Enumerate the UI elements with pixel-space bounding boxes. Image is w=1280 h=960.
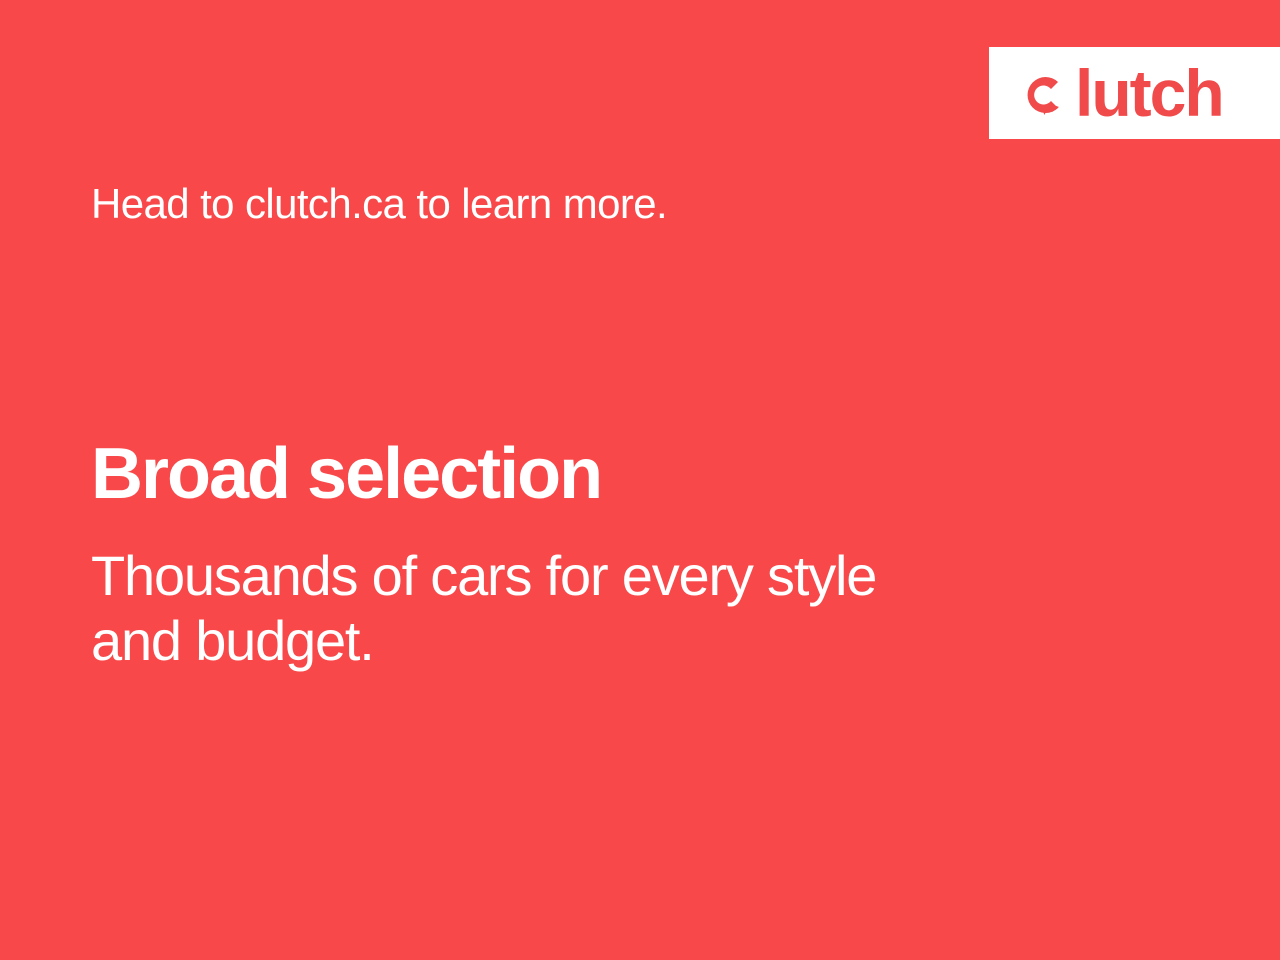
page-title: Broad selection [91,437,601,513]
clutch-logo[interactable]: lutch [1019,60,1223,126]
logo-plate: lutch [989,47,1280,139]
clutch-c-mark [1019,70,1069,120]
subhead-line-1: Thousands of cars for every style [91,544,1051,609]
subhead-line-2: and budget. [91,609,1051,674]
promo-slide: lutch Head to clutch.ca to learn more. B… [0,0,1280,960]
logo-wordmark: lutch [1075,60,1223,126]
eyebrow-text: Head to clutch.ca to learn more. [91,180,667,228]
subhead-block: Thousands of cars for every style and bu… [91,544,1051,674]
